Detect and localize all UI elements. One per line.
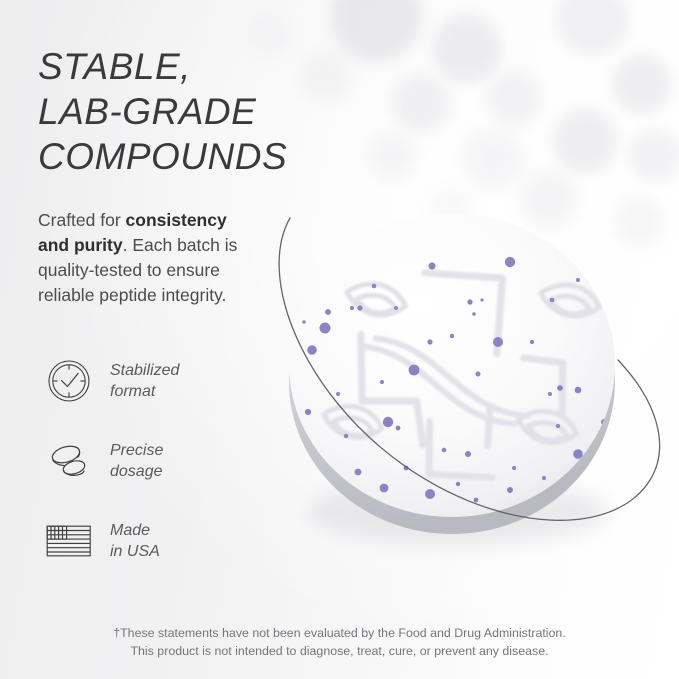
feature-item-made-in-usa: Made in USA [44,512,274,570]
fda-disclaimer: †These statements have not been evaluate… [0,624,679,660]
usa-flag-icon [44,516,94,566]
bokeh-circle [432,14,502,84]
bokeh-circle [628,128,679,182]
product-image [262,182,662,582]
bokeh-circle [392,74,450,132]
bokeh-circle [368,132,416,180]
clock-check-icon [44,356,94,406]
feature-label: Precise dosage [110,440,163,482]
page-title: STABLE, LAB-GRADE COMPOUNDS [38,44,368,179]
product-feature-graphic: STABLE, LAB-GRADE COMPOUNDS Crafted for … [0,0,679,679]
body-lead: Crafted for [38,210,126,230]
bokeh-circle [552,108,618,174]
feature-label: Stabilized format [110,360,179,402]
feature-item-precise-dosage: Precise dosage [44,432,274,490]
feature-item-stabilized-format: Stabilized format [44,352,274,410]
feature-label: Made in USA [110,520,160,562]
bokeh-circle [486,70,542,126]
bokeh-circle [462,128,524,190]
feature-list: Stabilized format Precise dosage [44,352,274,592]
body-paragraph: Crafted for consistency and purity. Each… [38,208,256,308]
bokeh-circle [556,0,630,56]
bokeh-circle [612,54,672,114]
tablets-icon [44,436,94,486]
